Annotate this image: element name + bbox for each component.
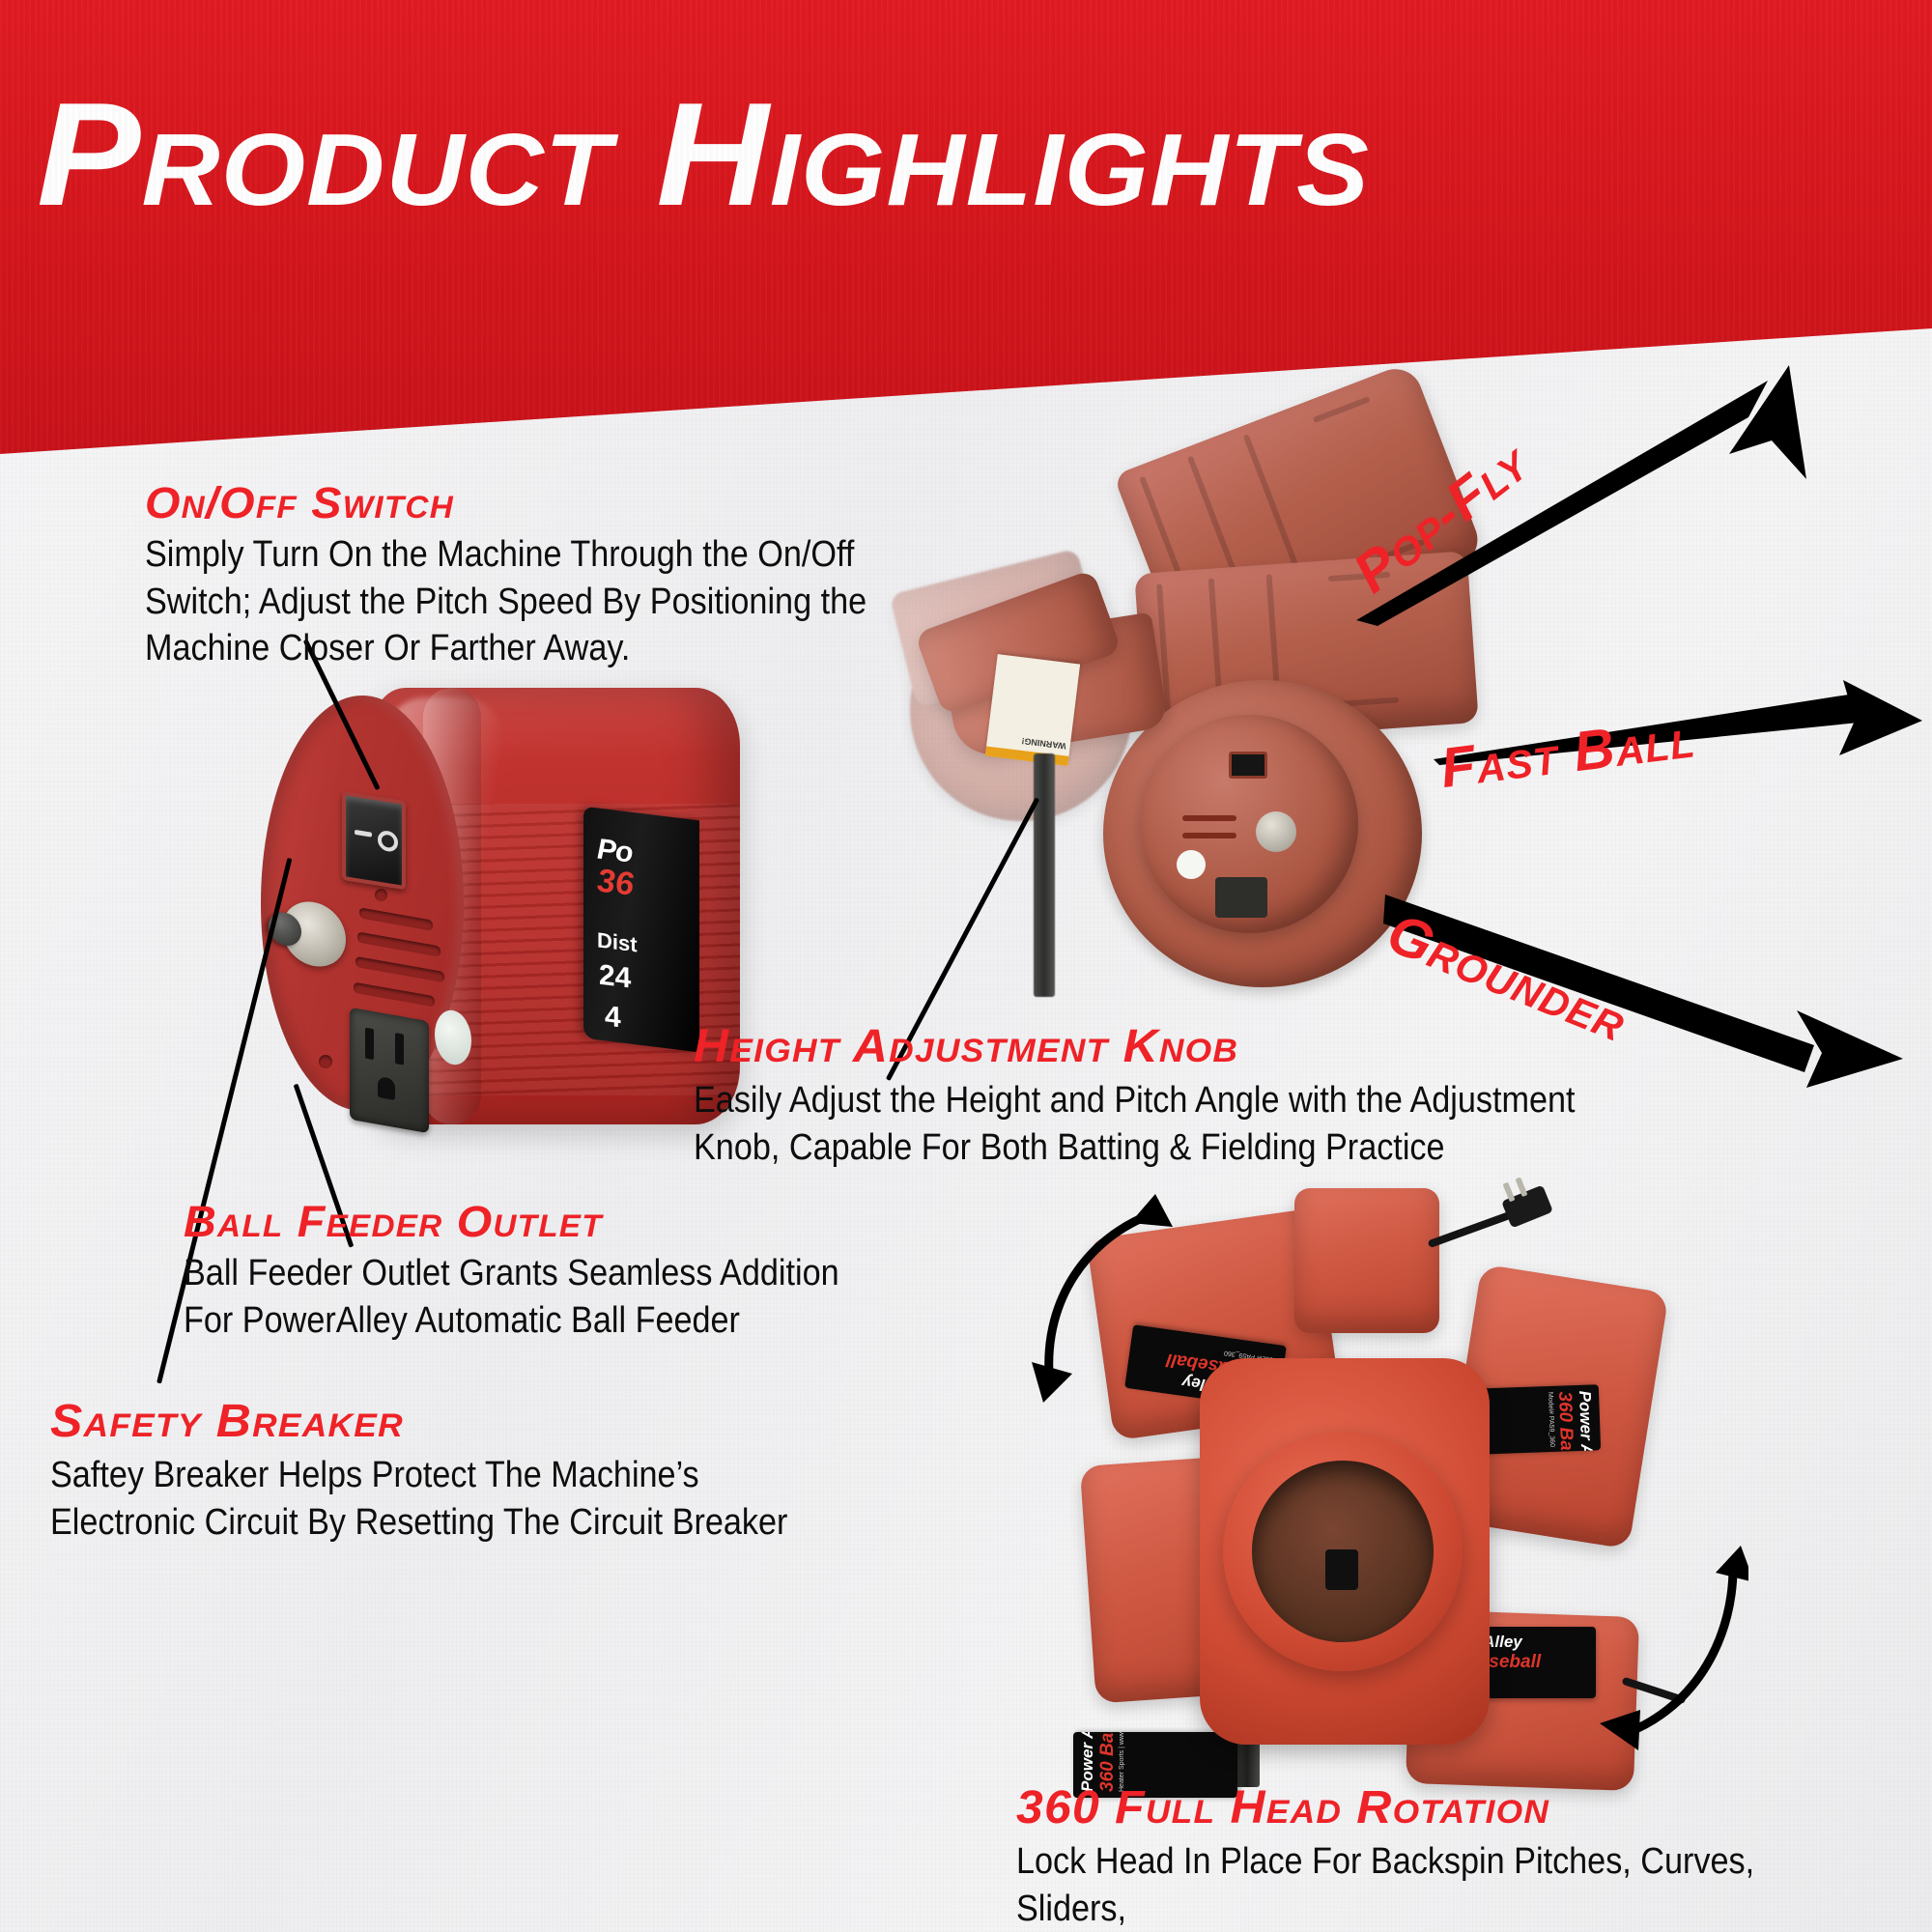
outlet-slot-left — [365, 1028, 374, 1061]
vent-slot — [355, 956, 444, 982]
spec-label-distance-a: 24 — [599, 959, 631, 996]
support-pole — [1034, 753, 1055, 997]
callout-heading: Safety Breaker — [50, 1399, 902, 1446]
head-vent — [1182, 815, 1236, 821]
head-rotation-photo: Power Alley 360 Baseball Model# PA59_360… — [976, 1150, 1710, 1787]
outlet-ground-slot — [378, 1076, 395, 1100]
head-safety-breaker[interactable] — [1256, 811, 1296, 852]
callout-heading: 360 Full Head Rotation — [1016, 1785, 1932, 1833]
callout-heading: On/Off Switch — [145, 481, 979, 526]
ball-exit-mouth — [1252, 1461, 1434, 1642]
head-control-disc — [1140, 715, 1358, 933]
ball-feeder-outlet-socket[interactable] — [350, 1008, 429, 1133]
callout-body: Simply Turn On the Machine Through the O… — [145, 531, 867, 672]
label-model: 360 Baseball — [1553, 1391, 1577, 1446]
vent-slot — [359, 907, 433, 930]
callout-heading: Height Adjustment Knob — [694, 1024, 1713, 1071]
callout-body: Lock Head In Place For Backspin Pitches,… — [1016, 1838, 1840, 1932]
callout-full-head-rotation: 360 Full Head Rotation Lock Head In Plac… — [1016, 1785, 1932, 1932]
switch-off-marking — [378, 830, 398, 853]
outlet-slot-right — [395, 1033, 404, 1065]
head-outlet[interactable] — [1215, 877, 1267, 918]
label-brand: Power Alley — [1575, 1390, 1596, 1445]
switch-on-marking — [355, 830, 372, 838]
warning-label-text: WARNING! — [991, 731, 1067, 753]
rotation-arrow-left-icon — [1010, 1184, 1184, 1416]
spec-label-distance-heading: Dist — [597, 927, 638, 957]
infographic-page: Product Highlights — [0, 0, 1932, 1932]
head-rocker-switch[interactable] — [1229, 752, 1267, 779]
vent-slot — [354, 982, 435, 1008]
callout-safety-breaker: Safety Breaker Saftey Breaker Helps Prot… — [50, 1399, 869, 1546]
callout-ball-feeder-outlet: Ball Feeder Outlet Ball Feeder Outlet Gr… — [184, 1200, 912, 1344]
safety-breaker-ring[interactable] — [282, 896, 346, 972]
power-rocker-switch[interactable] — [342, 791, 406, 890]
head-vent — [1182, 833, 1236, 838]
callout-body: Saftey Breaker Helps Protect The Machine… — [50, 1452, 787, 1546]
spec-label-model: 36 — [597, 862, 634, 904]
power-cord — [1428, 1209, 1518, 1248]
page-title: Product Highlights — [37, 81, 1370, 228]
rotation-arrow-right-icon — [1555, 1544, 1748, 1766]
screw-hole — [319, 1055, 332, 1068]
callout-heading: Ball Feeder Outlet — [184, 1200, 941, 1244]
head-sticker — [1177, 850, 1206, 879]
power-plug — [1501, 1184, 1553, 1228]
callout-body: Ball Feeder Outlet Grants Seamless Addit… — [184, 1250, 839, 1344]
spec-label-distance-b: 4 — [605, 1000, 621, 1035]
spec-label: Po 36 Dist 24 4 — [583, 807, 699, 1053]
rotation-top-housing — [1294, 1188, 1439, 1333]
mouth-paddle — [1325, 1549, 1358, 1590]
callout-height-adjustment-knob: Height Adjustment Knob Easily Adjust the… — [694, 1024, 1673, 1171]
callout-body: Easily Adjust the Height and Pitch Angle… — [694, 1077, 1576, 1171]
callout-on-off-switch: On/Off Switch Simply Turn On the Machine… — [145, 481, 947, 672]
warning-label: WARNING! — [985, 654, 1080, 766]
screw-hole — [375, 889, 387, 901]
vent-slot — [357, 931, 440, 956]
